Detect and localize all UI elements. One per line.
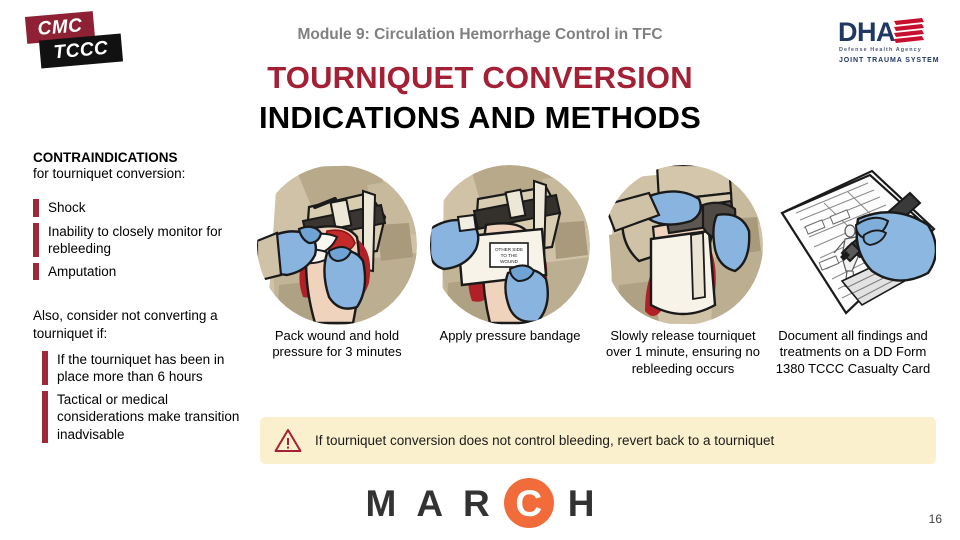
march-letter-a: A	[416, 485, 443, 522]
list-item-label: Amputation	[48, 263, 116, 280]
contraindications-list: Shock Inability to closely monitor for r…	[33, 199, 248, 280]
module-subtitle: Module 9: Circulation Hemorrhage Control…	[0, 26, 960, 44]
bandage-label-line1: OTHER SIDE	[495, 247, 523, 252]
pressure-bandage-illustration: OTHER SIDE TO THE WOUND	[430, 165, 590, 325]
page-title: TOURNIQUET CONVERSION	[0, 60, 960, 96]
bullet-bar-icon	[42, 391, 48, 443]
bullet-bar-icon	[42, 351, 48, 386]
list-item-label: Tactical or medical considerations make …	[57, 391, 248, 443]
list-item-label: If the tourniquet has been in place more…	[57, 351, 248, 386]
warning-banner: If tourniquet conversion does not contro…	[260, 417, 936, 464]
list-item-label: Inability to closely monitor for rebleed…	[48, 223, 248, 258]
march-letter-c-highlight: C	[504, 478, 554, 528]
list-item: Tactical or medical considerations make …	[42, 391, 248, 443]
sidebar-secondary-intro: Also, consider not converting a tourniqu…	[33, 307, 248, 341]
march-letter-r: R	[463, 485, 490, 522]
warning-triangle-icon	[274, 428, 302, 453]
march-mnemonic-footer: M A R C H	[0, 478, 960, 528]
step-caption: Pack wound and hold pressure for 3 minut…	[252, 328, 422, 361]
warning-message: If tourniquet conversion does not contro…	[315, 433, 774, 448]
march-letter-c: C	[515, 485, 542, 522]
bullet-bar-icon	[33, 223, 39, 258]
list-item: Shock	[33, 199, 248, 216]
list-item: Inability to closely monitor for rebleed…	[33, 223, 248, 258]
tourniquet-release-illustration	[603, 165, 763, 325]
bullet-bar-icon	[33, 263, 39, 280]
step-caption: Document all findings and treatments on …	[768, 328, 938, 377]
wound-packing-illustration	[257, 165, 417, 325]
bullet-bar-icon	[33, 199, 39, 216]
list-item-label: Shock	[48, 199, 86, 216]
list-item: If the tourniquet has been in place more…	[42, 351, 248, 386]
secondary-considerations-list: If the tourniquet has been in place more…	[33, 351, 248, 443]
bandage-label-line3: WOUND	[500, 259, 519, 264]
sidebar-heading: CONTRAINDICATIONS	[33, 150, 248, 166]
contraindications-sidebar: CONTRAINDICATIONS for tourniquet convers…	[33, 150, 248, 449]
step-caption: Apply pressure bandage	[425, 328, 595, 344]
dha-subtitle-agency: Defense Health Agency	[839, 47, 922, 53]
list-item: Amputation	[33, 263, 248, 280]
march-letter-m: M	[365, 485, 396, 522]
slide-canvas: CMC TCCC DHA Defense Health Agency JOINT…	[0, 0, 960, 540]
bandage-label-line2: TO THE	[501, 253, 518, 258]
sidebar-subheading: for tourniquet conversion:	[33, 166, 248, 183]
page-subtitle: INDICATIONS AND METHODS	[0, 100, 960, 136]
page-number: 16	[929, 512, 942, 526]
step-caption: Slowly release tourniquet over 1 minute,…	[598, 328, 768, 377]
march-letter-h: H	[568, 485, 595, 522]
casualty-card-documentation-illustration	[776, 165, 936, 325]
